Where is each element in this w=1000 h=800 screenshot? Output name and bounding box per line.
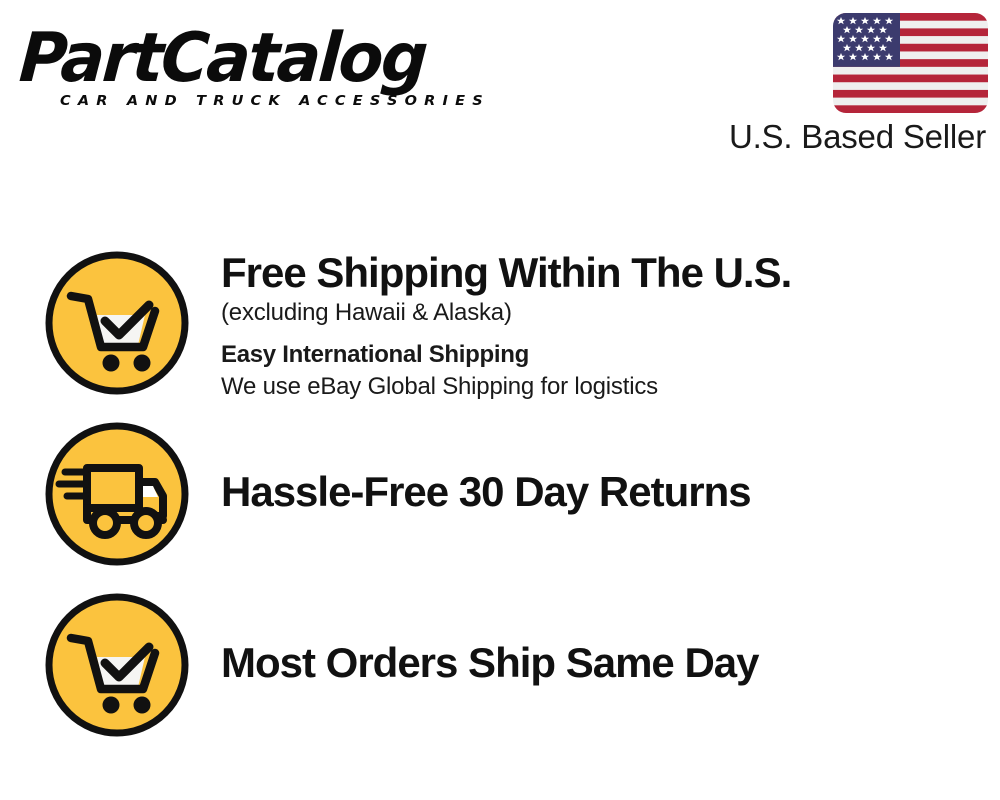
partcatalog-logo: PartCatalog CAR AND TRUCK ACCESSORIES xyxy=(22,24,492,116)
us-flag-icon xyxy=(833,13,988,113)
shopping-cart-check-icon xyxy=(43,249,191,397)
benefit-headline: Hassle-Free 30 Day Returns xyxy=(221,468,981,516)
benefit-text-returns: Hassle-Free 30 Day Returns xyxy=(221,468,981,516)
benefit-headline: Most Orders Ship Same Day xyxy=(221,639,981,687)
delivery-truck-icon xyxy=(43,420,191,568)
page-header: PartCatalog CAR AND TRUCK ACCESSORIES xyxy=(0,0,1000,175)
benefit-headline: Free Shipping Within The U.S. xyxy=(221,249,981,297)
brand-tagline: CAR AND TRUCK ACCESSORIES xyxy=(60,94,490,109)
shopping-cart-check-icon xyxy=(43,591,191,739)
us-based-seller-label: U.S. Based Seller xyxy=(729,118,986,156)
benefit-text-free-shipping: Free Shipping Within The U.S. (excluding… xyxy=(221,249,981,403)
benefit-note: (excluding Hawaii & Alaska) xyxy=(221,297,981,329)
benefit-text-same-day: Most Orders Ship Same Day xyxy=(221,639,981,687)
benefit-subheading: Easy International Shipping xyxy=(221,339,981,371)
brand-wordmark: PartCatalog xyxy=(17,24,473,94)
benefit-subtext: We use eBay Global Shipping for logistic… xyxy=(221,371,981,403)
